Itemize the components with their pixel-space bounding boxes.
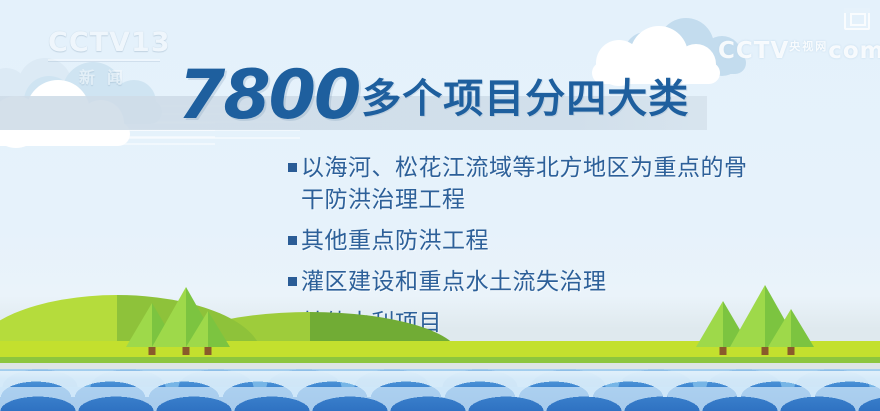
watermark-chinese-text: 央视网 bbox=[789, 40, 828, 53]
headline-number: 7800 bbox=[178, 56, 359, 135]
cctv-com-watermark: CCTV央视网com bbox=[718, 38, 880, 64]
watermark-com-text: com bbox=[828, 38, 880, 64]
cctv13-channel-logo: CCTV13 新闻 bbox=[48, 28, 166, 86]
headline: 7800多个项目分四大类 bbox=[178, 62, 689, 130]
cctv-logo-rule bbox=[48, 59, 160, 61]
headline-suffix: 多个项目分四大类 bbox=[361, 76, 689, 122]
bullet-square-icon bbox=[288, 236, 297, 245]
watermark-cctv-text: CCTV bbox=[718, 38, 789, 64]
list-item: 以海河、松花江流域等北方地区为重点的骨干防洪治理工程 bbox=[288, 152, 758, 216]
water-surface-sheen bbox=[0, 369, 880, 379]
bullet-text: 其他重点防洪工程 bbox=[301, 225, 489, 257]
list-item: 其他重点防洪工程 bbox=[288, 225, 758, 257]
tree-icon bbox=[186, 311, 230, 347]
cctv-logo-subtitle: 新闻 bbox=[48, 64, 166, 88]
cctv-channel-number: 13 bbox=[131, 27, 171, 58]
wave-layer-front bbox=[0, 387, 880, 411]
bullet-text: 以海河、松花江流域等北方地区为重点的骨干防洪治理工程 bbox=[301, 152, 758, 216]
bullet-square-icon bbox=[288, 163, 297, 172]
tree-icon bbox=[768, 309, 814, 347]
landscape-illustration bbox=[0, 276, 880, 411]
broadcast-graphic-stage: CCTV13 新闻 CCTV央视网com 7800多个项目分四大类 以海河、松花… bbox=[0, 0, 880, 411]
water-illustration bbox=[0, 369, 880, 411]
cctv-logo-text: CCTV bbox=[48, 27, 131, 58]
picture-in-picture-icon bbox=[844, 8, 870, 30]
